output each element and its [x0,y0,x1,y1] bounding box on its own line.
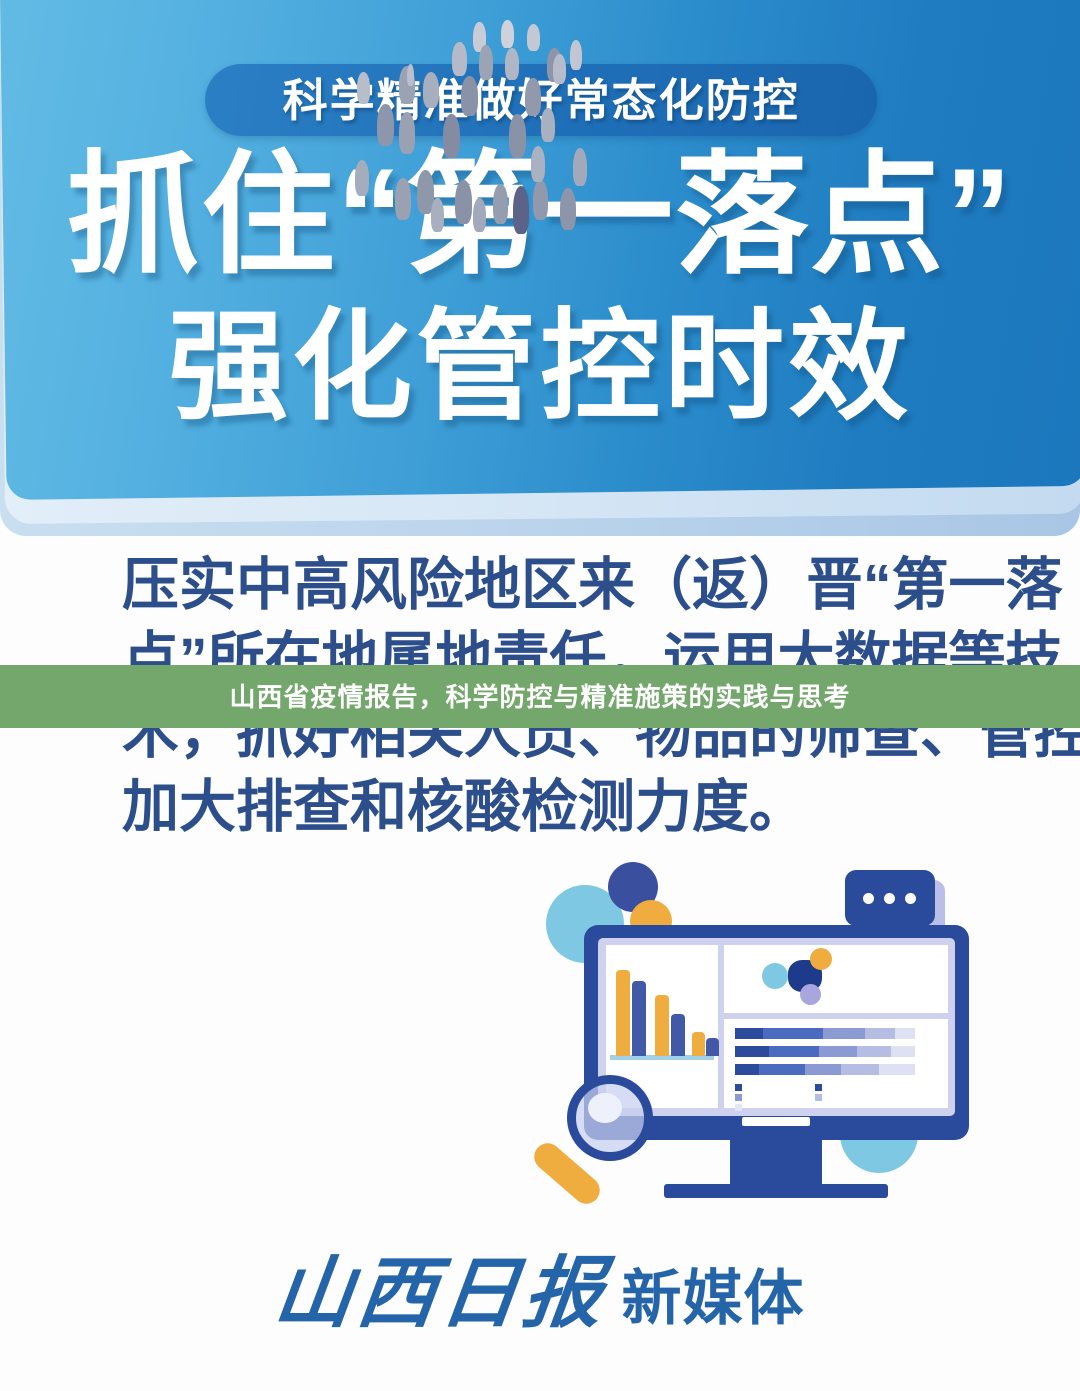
chart-bar-blue-2 [671,1014,685,1056]
chat-dot-icon [884,893,895,904]
masthead-suffix: 新媒体 [622,1269,805,1333]
person-silhouette [461,76,478,116]
person-silhouette [431,198,444,232]
molecule-node-orange [810,948,832,970]
person-silhouette [377,104,394,146]
masthead-calligraphy: 山西日报 [271,1255,613,1333]
monitor-panel-molecule [724,945,948,1013]
person-silhouette [395,178,411,220]
progress-row [735,1064,915,1075]
person-silhouette [573,148,587,186]
person-silhouette [452,42,467,76]
chart-bar-blue-1 [632,981,646,1056]
legend-swatch [735,1094,742,1101]
legend-swatch [815,1094,822,1101]
chart-bar-orange-1 [616,970,630,1056]
chat-dot-icon [905,893,916,904]
body-line-4: 加大排查和核酸检测力度。 [122,770,962,844]
person-silhouette [423,72,439,108]
poster-root: 科学精准做好常态化防控 抓住“第一落点” 强化管控时效 压实中高风险地区来（返）… [0,0,1080,1391]
person-silhouette [553,54,566,84]
person-silhouette [443,114,460,158]
legend-swatch [735,1104,742,1111]
person-silhouette [533,180,548,220]
headline-line-2: 强化管控时效 [0,307,1080,427]
chart-bar-orange-3 [692,1032,705,1056]
progress-row [735,1046,915,1057]
crowd-silhouette-group [355,20,635,310]
person-silhouette [357,72,370,104]
person-silhouette [493,184,508,224]
chart-bar-blue-3 [706,1038,719,1056]
person-silhouette [479,45,493,80]
person-silhouette [527,24,540,51]
person-silhouette [407,64,414,86]
legend-swatch [815,1084,822,1091]
person-silhouette [355,160,369,196]
molecule-node-lightblue [762,963,788,989]
monitor-stand-neck [730,1140,822,1184]
legend-swatch [735,1084,742,1091]
chart-bar-orange-2 [655,995,669,1056]
chat-dot-icon [863,893,874,904]
publisher-logo: 山西日报 新媒体 [0,1255,1080,1333]
person-silhouette [560,188,576,230]
monitor-stand-base [664,1184,888,1198]
person-silhouette [505,48,519,80]
caption-text: 山西省疫情报告，科学防控与精准施策的实践与思考 [229,684,850,710]
person-silhouette [531,146,545,182]
magnifier-glare [588,1093,622,1123]
person-silhouette [399,112,415,154]
person-silhouette [455,180,472,224]
monitor-notch [742,1117,810,1126]
person-silhouette [501,20,514,48]
person-silhouette [509,114,526,158]
person-silhouette [570,40,582,70]
caption-overlay-band: 山西省疫情报告，科学防控与精准施策的实践与思考 [0,665,1080,728]
person-silhouette [513,186,529,234]
molecule-node-violet [800,984,821,1005]
person-silhouette [473,198,486,232]
person-silhouette [541,108,555,142]
body-line-1: 压实中高风险地区来（返）晋“第一落 [122,548,962,622]
progress-row [735,1028,915,1039]
person-silhouette [525,78,541,116]
